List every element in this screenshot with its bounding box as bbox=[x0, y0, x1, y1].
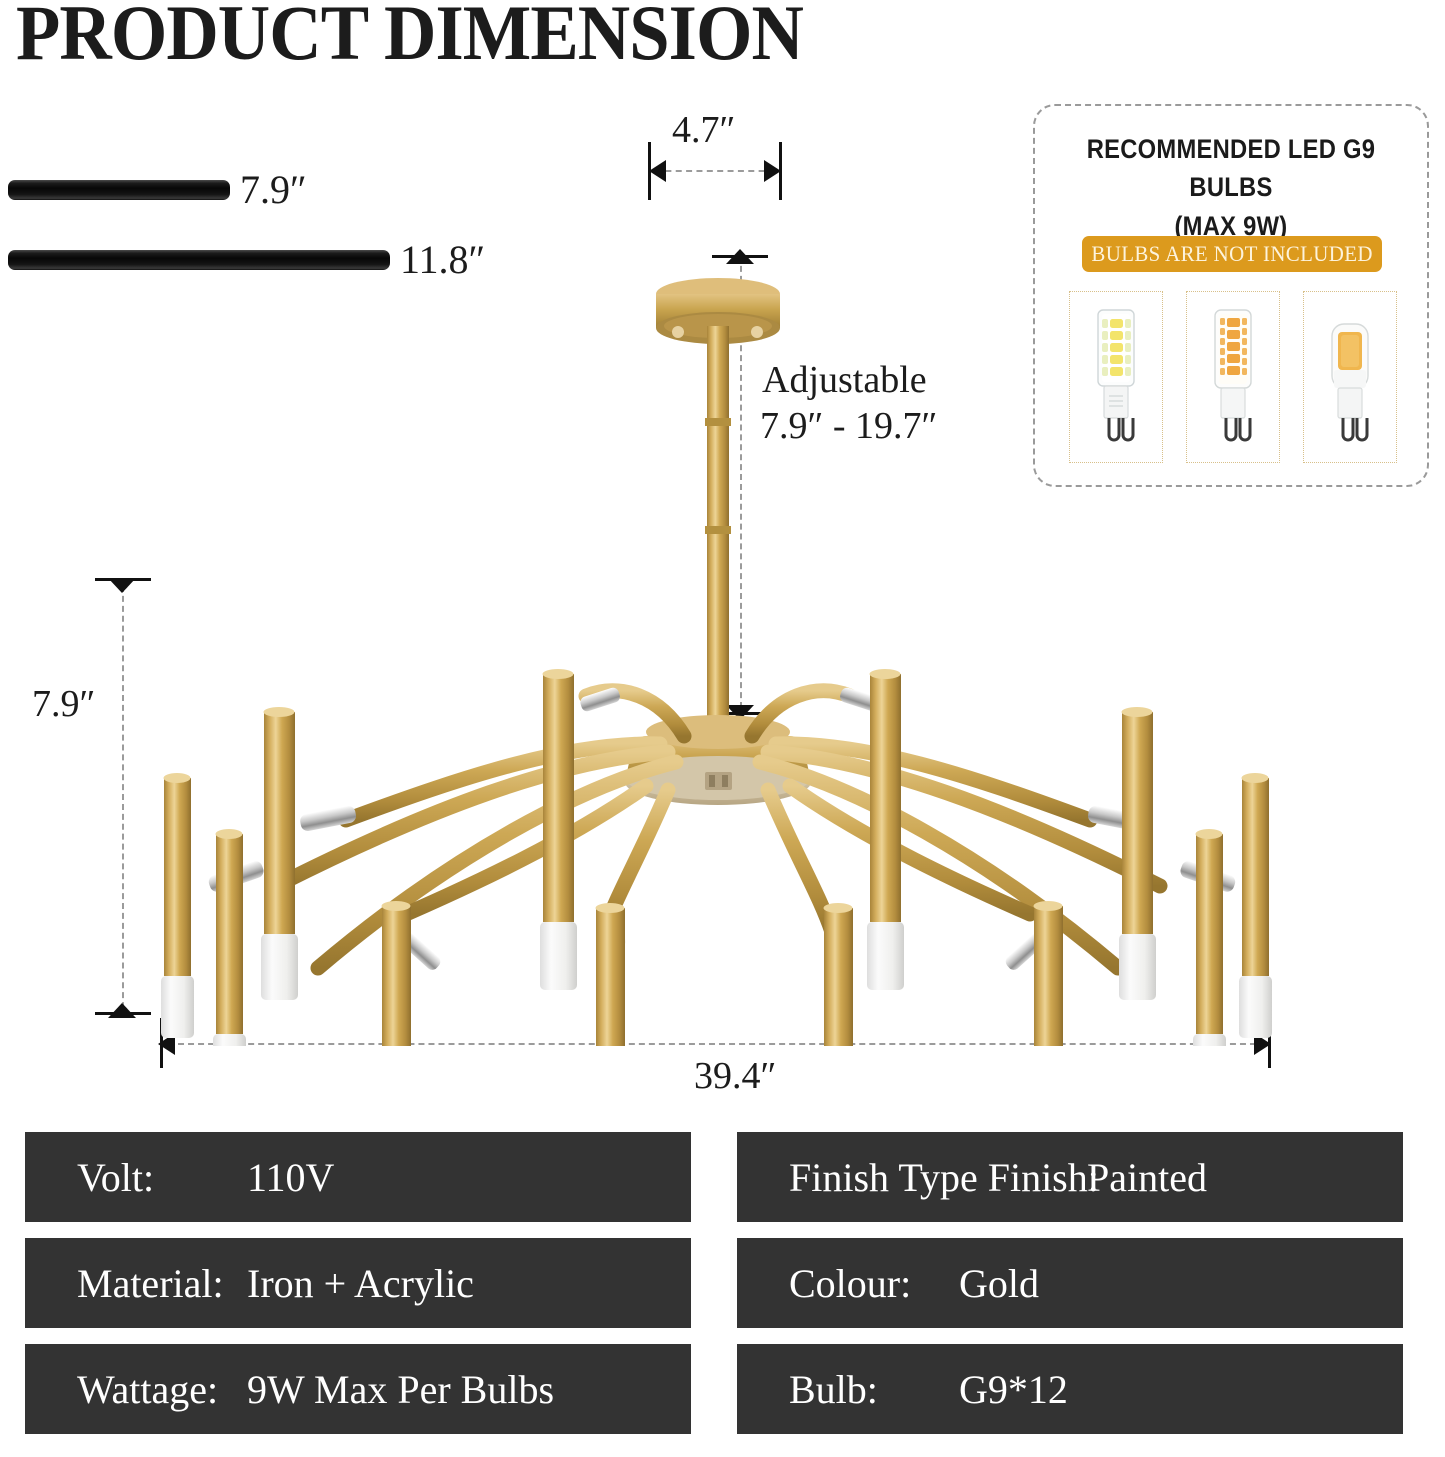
page-title: PRODUCT DIMENSION bbox=[16, 0, 803, 78]
spec-wattage-value: 9W Max Per Bulbs bbox=[247, 1366, 554, 1413]
fixture-width-label: 39.4″ bbox=[694, 1054, 776, 1098]
spec-finish-type-value: Painted bbox=[1087, 1154, 1207, 1201]
light-tube bbox=[593, 903, 628, 1046]
light-tube bbox=[1031, 901, 1066, 1046]
spec-volt-value: 110V bbox=[247, 1154, 334, 1201]
specifications-table: Volt: 110V Finish Type Finish: Painted M… bbox=[25, 1132, 1403, 1434]
light-tube bbox=[261, 707, 298, 1000]
spec-material-key: Material: bbox=[25, 1260, 247, 1307]
light-tube bbox=[821, 903, 856, 1046]
spec-bulb: Bulb: G9*12 bbox=[737, 1344, 1403, 1434]
adjustable-downrod bbox=[705, 326, 731, 718]
light-tube bbox=[1239, 773, 1272, 1038]
spec-bulb-value: G9*12 bbox=[959, 1366, 1068, 1413]
spec-wattage-key: Wattage: bbox=[25, 1366, 247, 1413]
arm-group-lower bbox=[406, 786, 1030, 932]
light-tube bbox=[867, 669, 904, 990]
light-tube bbox=[161, 773, 194, 1038]
spec-wattage: Wattage: 9W Max Per Bulbs bbox=[25, 1344, 691, 1434]
spec-bulb-key: Bulb: bbox=[737, 1366, 959, 1413]
spec-colour: Colour: Gold bbox=[737, 1238, 1403, 1328]
spec-volt: Volt: 110V bbox=[25, 1132, 691, 1222]
spec-colour-key: Colour: bbox=[737, 1260, 959, 1307]
spec-material: Material: Iron + Acrylic bbox=[25, 1238, 691, 1328]
light-tube bbox=[1193, 829, 1226, 1046]
arm-group-upper-right bbox=[760, 744, 1160, 968]
light-tube bbox=[379, 901, 414, 1046]
chandelier-illustration bbox=[0, 96, 1445, 1046]
spec-colour-value: Gold bbox=[959, 1260, 1039, 1307]
spec-volt-key: Volt: bbox=[25, 1154, 247, 1201]
spec-finish-type-key: Finish Type Finish: bbox=[737, 1154, 1087, 1201]
spec-finish-type: Finish Type Finish: Painted bbox=[737, 1132, 1403, 1222]
light-tube bbox=[1119, 707, 1156, 1000]
light-tube bbox=[540, 669, 577, 990]
light-tube bbox=[213, 829, 246, 1046]
spec-material-value: Iron + Acrylic bbox=[247, 1260, 474, 1307]
